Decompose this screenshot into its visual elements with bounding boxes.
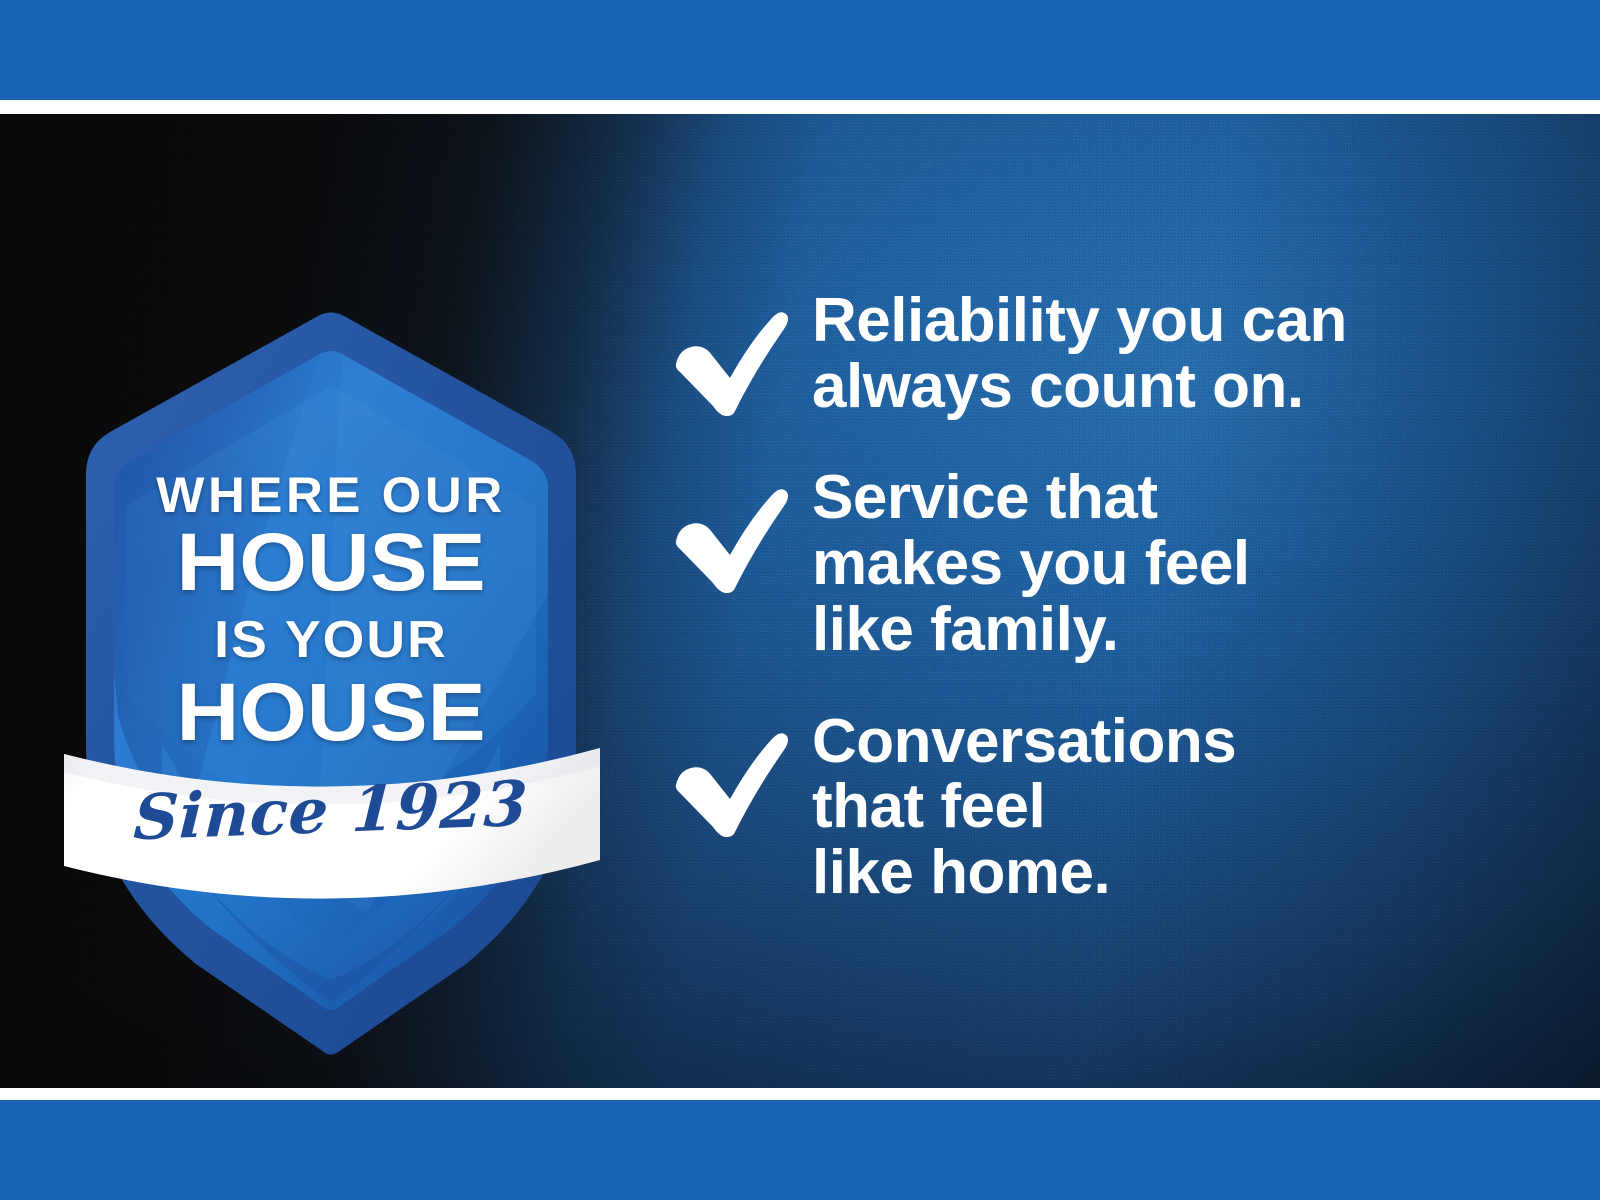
benefits-list: Reliability you can always count on. Ser… xyxy=(672,284,1532,906)
promo-graphic: WHERE OUR HOUSE IS YOUR HOUSE Since 1923… xyxy=(0,0,1600,1200)
list-item-text: Conversations that feel like home. xyxy=(812,705,1532,906)
shield-badge: WHERE OUR HOUSE IS YOUR HOUSE Since 1923 xyxy=(66,274,596,1054)
main-stage: WHERE OUR HOUSE IS YOUR HOUSE Since 1923… xyxy=(0,114,1600,1088)
list-item: Reliability you can always count on. xyxy=(672,284,1532,419)
check-icon xyxy=(672,483,790,595)
list-item-text: Service that makes you feel like family. xyxy=(812,461,1532,662)
top-brand-band xyxy=(0,0,1600,100)
check-icon xyxy=(672,306,790,418)
bottom-brand-band xyxy=(0,1100,1600,1200)
list-item: Service that makes you feel like family. xyxy=(672,461,1532,662)
list-item-text: Reliability you can always count on. xyxy=(812,284,1532,419)
list-item: Conversations that feel like home. xyxy=(672,705,1532,906)
check-icon xyxy=(672,727,790,839)
